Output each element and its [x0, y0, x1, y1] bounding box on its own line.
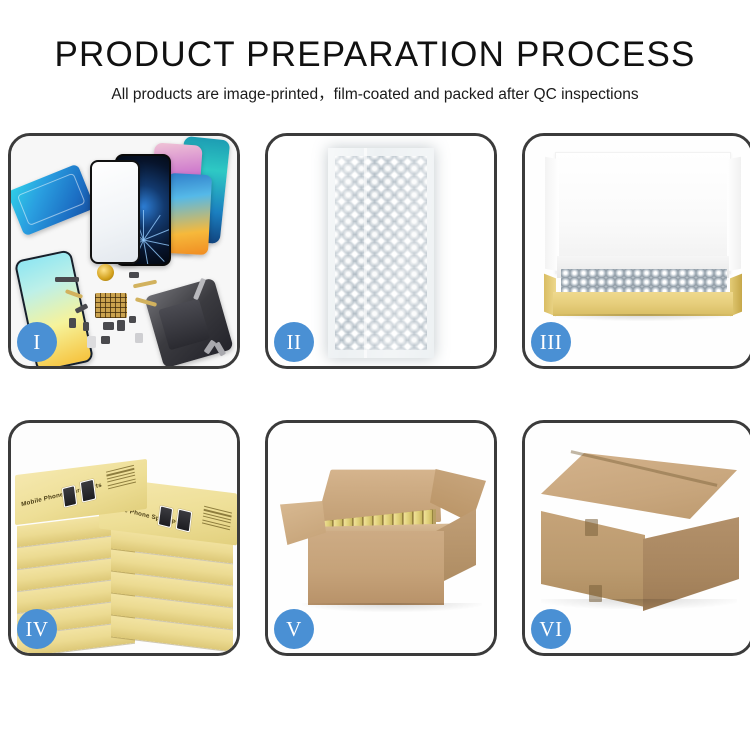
small-part: [83, 322, 89, 331]
white-glass-protector: [90, 160, 140, 264]
page-header: PRODUCT PREPARATION PROCESS All products…: [0, 0, 750, 105]
flex-cable: [133, 280, 157, 289]
small-part: [101, 336, 110, 344]
process-steps-grid: I II III: [8, 133, 742, 656]
small-part: [129, 272, 139, 278]
process-step-card-4[interactable]: Mobile Phone Spare Parts Mobile Phone Sp…: [8, 420, 240, 656]
step-badge: II: [274, 322, 314, 362]
page-subtitle: All products are image-printed，film-coat…: [0, 85, 750, 105]
process-step-card-6[interactable]: VI: [522, 420, 750, 656]
small-part: [55, 277, 79, 282]
process-step-card-5[interactable]: V: [265, 420, 497, 656]
step-badge: VI: [531, 609, 571, 649]
amber-gradient-phone: [164, 173, 212, 255]
small-part: [69, 318, 76, 328]
process-step-card-3[interactable]: III: [522, 133, 750, 369]
carton-shadow: [302, 603, 482, 612]
page-title: PRODUCT PREPARATION PROCESS: [0, 34, 750, 76]
bubble-wrapped-unit: [328, 148, 434, 358]
box-spec-lines: [106, 465, 136, 489]
box-phone-image: [62, 485, 77, 508]
box-shadow: [551, 314, 735, 321]
step-badge: IV: [17, 609, 57, 649]
small-part: [135, 333, 143, 343]
box-phone-image: [80, 479, 96, 503]
chip-grid-part: [95, 293, 127, 318]
small-part: [87, 336, 96, 348]
bubble-gloss: [328, 148, 434, 358]
small-part: [103, 322, 114, 330]
carton-right-panel: [643, 517, 739, 611]
box-phone-image: [158, 505, 173, 528]
carton-front-panel: [308, 531, 444, 605]
gold-coil-part: [97, 264, 114, 281]
carton-tape-mark: [585, 519, 598, 536]
step-badge: V: [274, 609, 314, 649]
blue-adhesive-sheet: [8, 164, 95, 237]
box-front-panel: [553, 292, 733, 316]
process-step-card-2[interactable]: II: [265, 133, 497, 369]
small-part: [129, 316, 136, 323]
carton-top-panel: [541, 453, 737, 519]
small-part: [117, 320, 125, 331]
process-step-card-1[interactable]: I: [8, 133, 240, 369]
step-badge: I: [17, 322, 57, 362]
box-phone-image: [176, 508, 192, 532]
carton-shadow: [541, 599, 737, 609]
box-spec-lines: [202, 506, 232, 530]
step-badge: III: [531, 322, 571, 362]
